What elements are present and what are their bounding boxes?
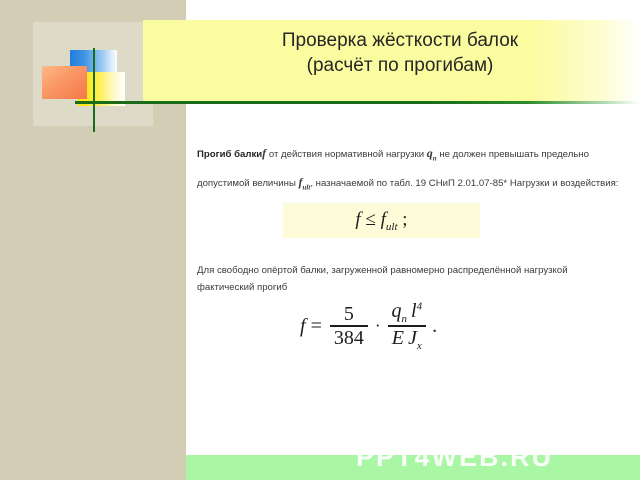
fraction2-numerator: qn l4 (388, 300, 427, 325)
symbol-J-base: J (408, 327, 417, 349)
paragraph1-text-3: , назначаемой по табл. 19 СНиП 2.01.07-8… (310, 178, 618, 189)
watermark-bar: PPT4WEB.RU (186, 455, 640, 480)
symbol-fult: fult (299, 175, 311, 189)
symbol-qn: qn (427, 146, 437, 160)
body-paragraph-1: Прогиб балкиf от действия нормативной на… (197, 141, 625, 200)
fraction-five-over-384: 5 384 (330, 303, 368, 349)
symbol-J-subscript: x (417, 340, 422, 352)
fraction2-denominator: E Jx (388, 327, 426, 352)
presentation-slide: Проверка жёсткости балок (расчёт по прог… (0, 0, 640, 480)
inline-formula: f ≤ fult ; (355, 209, 407, 233)
display-formula-multiply: · (375, 316, 381, 336)
inline-formula-box: f ≤ fult ; (283, 203, 480, 238)
inline-formula-relation: ≤ (365, 209, 375, 230)
watermark-text: PPT4WEB.RU (356, 455, 553, 473)
body-paragraph-2: Для свободно опёртой балки, загруженной … (197, 262, 617, 296)
fraction-qnl4-over-EJx: qn l4 E Jx (388, 300, 427, 352)
inline-formula-terminator: ; (402, 209, 407, 230)
paragraph1-lead: Прогиб балки (197, 149, 262, 160)
inline-formula-rhs-subscript: ult (386, 220, 398, 232)
title-line-1: Проверка жёсткости балок (160, 28, 640, 53)
symbol-q-subscript: n (402, 313, 408, 325)
inline-formula-lhs: f (355, 209, 360, 230)
paragraph1-text-1: от действия нормативной нагрузки (266, 149, 427, 160)
logo-vertical-rule (93, 48, 95, 132)
symbol-l-exponent: 4 (417, 300, 423, 312)
title-line-2: (расчёт по прогибам) (160, 53, 640, 78)
logo-square-orange-icon (42, 66, 87, 99)
page-title: Проверка жёсткости балок (расчёт по прог… (160, 28, 640, 78)
fraction1-denominator: 384 (330, 327, 368, 349)
display-formula: f = 5 384 · qn l4 E Jx . (300, 300, 437, 352)
symbol-E: E (392, 327, 404, 349)
display-formula-equals: = (311, 315, 322, 338)
symbol-q-base: q (392, 300, 402, 322)
fraction1-numerator: 5 (340, 303, 358, 325)
title-underline-rule (75, 101, 640, 104)
display-formula-lhs: f (300, 315, 306, 338)
display-formula-terminator: . (432, 315, 437, 338)
